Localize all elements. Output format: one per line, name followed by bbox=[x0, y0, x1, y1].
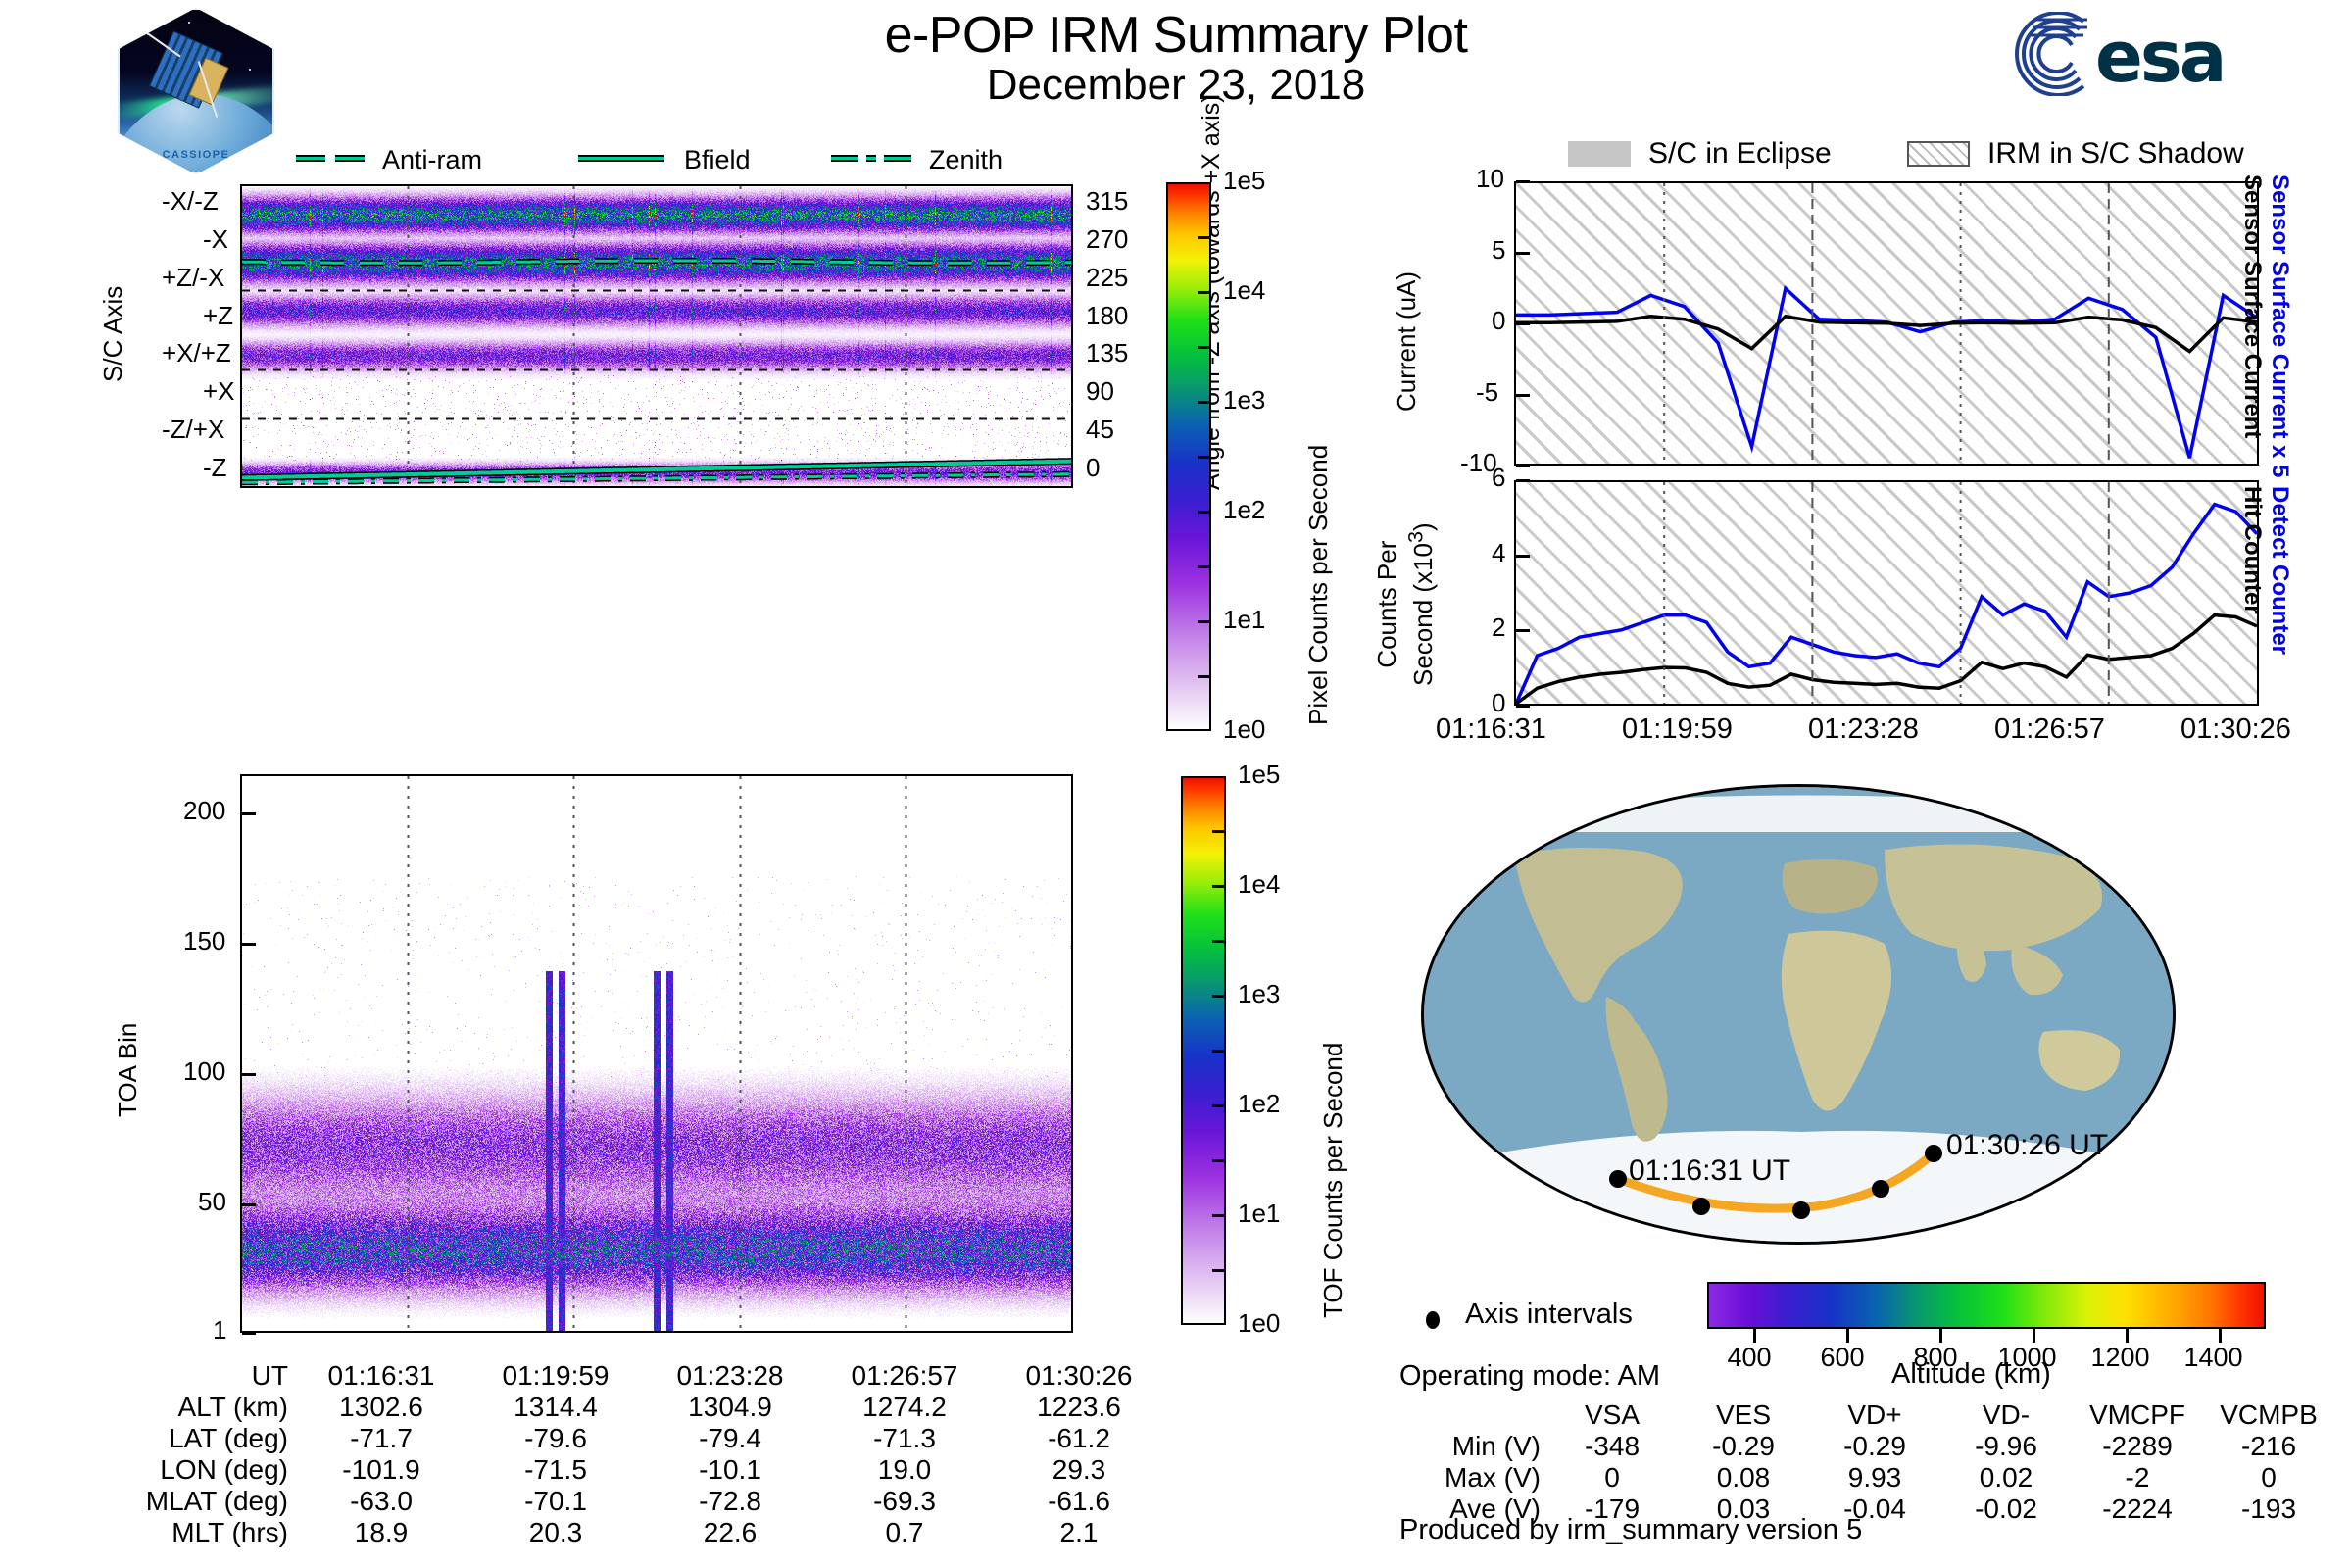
tof-cbar-tick-1: 1e4 bbox=[1238, 869, 1280, 900]
counts-right-label-blue: Detect Counter bbox=[2266, 486, 2293, 655]
tof-cbar-tick-5: 1e0 bbox=[1238, 1308, 1280, 1339]
track-point-start bbox=[1609, 1170, 1627, 1188]
map-end-time-label: 01:30:26 UT bbox=[1946, 1129, 2108, 1162]
eclipse-swatch bbox=[1568, 141, 1631, 167]
ephemeris-cell-2-1: -79.6 bbox=[468, 1423, 643, 1454]
ephemeris-row-label-1: ALT (km) bbox=[108, 1392, 294, 1423]
legend-label-zenith: Zenith bbox=[929, 145, 1003, 175]
toa-spectrogram-panel[interactable] bbox=[240, 774, 1073, 1333]
toa-spectrogram-image bbox=[242, 776, 1071, 1331]
ephemeris-cell-5-4: 2.1 bbox=[992, 1517, 1166, 1548]
ytick-p3-ticks-2: 0 bbox=[1492, 306, 1505, 336]
legend-label-bfield: Bfield bbox=[684, 145, 751, 175]
shadow-legend: S/C in Eclipse IRM in S/C Shadow bbox=[1568, 137, 2332, 172]
voltage-row-label-1: Max (V) bbox=[1399, 1462, 1546, 1494]
toa-ytick-3: 50 bbox=[198, 1187, 226, 1217]
voltage-cell-2-5: -193 bbox=[2203, 1494, 2334, 1525]
ephemeris-cell-0-2: 01:23:28 bbox=[643, 1360, 817, 1392]
pixel-cbar-tick-2: 1e3 bbox=[1223, 385, 1265, 416]
toa-panel-ylabel: TOA Bin bbox=[113, 1023, 143, 1117]
ephemeris-cell-3-1: -71.5 bbox=[468, 1454, 643, 1486]
angle-spectrogram-panel[interactable] bbox=[240, 184, 1073, 488]
eclipse-label: S/C in Eclipse bbox=[1648, 137, 1832, 171]
altitude-tick-4: 1200 bbox=[2091, 1343, 2150, 1373]
voltage-cell-0-4: -2289 bbox=[2072, 1431, 2203, 1462]
angle-ytick-right-0: 315 bbox=[1086, 186, 1128, 217]
operating-mode-label: Operating mode: AM bbox=[1399, 1360, 1660, 1393]
angle-ytick-left-7: -Z bbox=[203, 453, 227, 483]
legend-swatch-bfield bbox=[578, 155, 664, 162]
ytick-p4-ticks-1: 4 bbox=[1492, 538, 1505, 568]
altitude-tick-0: 400 bbox=[1728, 1343, 1772, 1373]
ephemeris-row: LON (deg)-101.9-71.5-10.119.029.3 bbox=[108, 1454, 1166, 1486]
ephemeris-row-label-5: MLT (hrs) bbox=[108, 1517, 294, 1548]
ephemeris-cell-2-4: -61.2 bbox=[992, 1423, 1166, 1454]
ephemeris-cell-0-3: 01:26:57 bbox=[817, 1360, 992, 1392]
ephemeris-row: ALT (km)1302.61314.41304.91274.21223.6 bbox=[108, 1392, 1166, 1423]
tof-cbar-tick-3: 1e2 bbox=[1238, 1089, 1280, 1119]
series-1 bbox=[1516, 317, 2257, 352]
tof-cbar-tick-0: 1e5 bbox=[1238, 759, 1280, 790]
voltage-column-header-3: VD- bbox=[1940, 1399, 2072, 1431]
patch-label: CASSIOPE bbox=[120, 149, 272, 161]
spectrogram-legend: Anti-ram Bfield Zenith bbox=[284, 145, 1029, 174]
pixel-counts-colorbar-label: Pixel Counts per Second bbox=[1303, 445, 1334, 725]
track-point-end bbox=[1925, 1145, 1942, 1162]
ephemeris-cell-4-2: -72.8 bbox=[643, 1486, 817, 1517]
voltage-summary-table: VSAVESVD+VD-VMCPFVCMPBMin (V)-348-0.29-0… bbox=[1399, 1399, 2334, 1525]
voltage-cell-0-5: -216 bbox=[2203, 1431, 2334, 1462]
current-right-label-blue: Sensor Surface Current x 5 bbox=[2266, 174, 2293, 477]
axis-intervals-dot-icon bbox=[1426, 1311, 1440, 1329]
voltage-row-label-0: Min (V) bbox=[1399, 1431, 1546, 1462]
toa-ytick-2: 100 bbox=[183, 1056, 225, 1087]
ephemeris-cell-5-0: 18.9 bbox=[294, 1517, 468, 1548]
pixel-cbar-tick-1: 1e4 bbox=[1223, 275, 1265, 306]
angle-ytick-left-4: +X/+Z bbox=[162, 338, 231, 368]
toa-ytick-0: 200 bbox=[183, 796, 225, 826]
esa-logo: esa bbox=[1989, 10, 2293, 98]
shadow-swatch bbox=[1907, 141, 1970, 167]
altitude-tick-1: 600 bbox=[1821, 1343, 1865, 1373]
toa-ytick-1: 150 bbox=[183, 926, 225, 956]
tof-counts-colorbar-label: TOF Counts per Second bbox=[1318, 1043, 1348, 1318]
ephemeris-cell-4-0: -63.0 bbox=[294, 1486, 468, 1517]
ephemeris-cell-3-4: 29.3 bbox=[992, 1454, 1166, 1486]
angle-ytick-right-1: 270 bbox=[1086, 224, 1128, 255]
voltage-row: Min (V)-348-0.29-0.29-9.96-2289-216 bbox=[1399, 1431, 2334, 1462]
angle-ytick-right-3: 180 bbox=[1086, 301, 1128, 331]
voltage-column-header-4: VMCPF bbox=[2072, 1399, 2203, 1431]
altitude-colorbar-label: Altitude (km) bbox=[1891, 1358, 2051, 1391]
angle-spectrogram-image bbox=[242, 186, 1071, 486]
counts-xtick-1: 01:19:59 bbox=[1622, 713, 1733, 746]
voltage-cell-1-2: 9.93 bbox=[1809, 1462, 1940, 1494]
produced-by-footer: Produced by irm_summary version 5 bbox=[1399, 1514, 1862, 1546]
counts-xtick-3: 01:26:57 bbox=[1994, 713, 2105, 746]
ephemeris-row: MLAT (deg)-63.0-70.1-72.8-69.3-61.6 bbox=[108, 1486, 1166, 1517]
current-right-label-black: Sensor Surface Current bbox=[2238, 174, 2266, 438]
angle-ytick-right-5: 90 bbox=[1086, 376, 1114, 407]
counts-xtick-2: 01:23:28 bbox=[1808, 713, 1919, 746]
toa-ytick-4: 1 bbox=[213, 1315, 226, 1346]
tof-cbar-tick-4: 1e1 bbox=[1238, 1199, 1280, 1229]
voltage-corner-cell bbox=[1399, 1399, 1546, 1431]
esa-arc-icon bbox=[1989, 12, 2091, 96]
ephemeris-cell-3-2: -10.1 bbox=[643, 1454, 817, 1486]
world-map-graphic bbox=[1424, 787, 2176, 1245]
ephemeris-table: UT01:16:3101:19:5901:23:2801:26:5701:30:… bbox=[108, 1360, 1166, 1548]
voltage-cell-0-2: -0.29 bbox=[1809, 1431, 1940, 1462]
ytick-p3-ticks-3: -5 bbox=[1476, 377, 1498, 408]
angle-ytick-left-5: +X bbox=[203, 376, 235, 407]
ephemeris-cell-1-2: 1304.9 bbox=[643, 1392, 817, 1423]
voltage-column-header-1: VES bbox=[1678, 1399, 1809, 1431]
legend-label-anti-ram: Anti-ram bbox=[382, 145, 482, 175]
altitude-colorbar bbox=[1707, 1282, 2266, 1329]
ephemeris-cell-4-3: -69.3 bbox=[817, 1486, 992, 1517]
angle-ytick-right-7: 0 bbox=[1086, 453, 1100, 483]
angle-ytick-left-0: -X/-Z bbox=[162, 186, 219, 217]
esa-wordmark: esa bbox=[2095, 16, 2224, 98]
ephemeris-cell-4-4: -61.6 bbox=[992, 1486, 1166, 1517]
ground-track-map[interactable]: 01:16:31 UT 01:30:26 UT bbox=[1421, 784, 2176, 1245]
series-0 bbox=[1516, 288, 2257, 458]
ephemeris-cell-5-2: 22.6 bbox=[643, 1517, 817, 1548]
ephemeris-cell-3-3: 19.0 bbox=[817, 1454, 992, 1486]
ephemeris-cell-2-0: -71.7 bbox=[294, 1423, 468, 1454]
voltage-cell-2-4: -2224 bbox=[2072, 1494, 2203, 1525]
voltage-column-header-2: VD+ bbox=[1809, 1399, 1940, 1431]
voltage-row: Max (V)00.089.930.02-20 bbox=[1399, 1462, 2334, 1494]
counts-panel-ylabel: Counts Per Second (x103) bbox=[1372, 522, 1439, 686]
ephemeris-cell-0-0: 01:16:31 bbox=[294, 1360, 468, 1392]
legend-swatch-anti-ram bbox=[296, 155, 325, 162]
ephemeris-cell-4-1: -70.1 bbox=[468, 1486, 643, 1517]
pixel-cbar-tick-3: 1e2 bbox=[1223, 495, 1265, 525]
ytick-p3-ticks-0: 10 bbox=[1476, 164, 1504, 194]
voltage-column-header-0: VSA bbox=[1546, 1399, 1678, 1431]
angle-ytick-right-2: 225 bbox=[1086, 263, 1128, 293]
ephemeris-cell-5-1: 20.3 bbox=[468, 1517, 643, 1548]
angle-panel-ylabel: S/C Axis bbox=[98, 286, 128, 382]
ephemeris-cell-0-4: 01:30:26 bbox=[992, 1360, 1166, 1392]
axis-intervals-label: Axis intervals bbox=[1465, 1298, 1633, 1331]
voltage-column-header-5: VCMPB bbox=[2203, 1399, 2334, 1431]
voltage-cell-1-0: 0 bbox=[1546, 1462, 1678, 1494]
shadow-label: IRM in S/C Shadow bbox=[1987, 137, 2244, 171]
track-point bbox=[1692, 1198, 1710, 1215]
cassiope-mission-patch: CASSIOPE bbox=[118, 8, 274, 174]
ytick-p4-ticks-2: 2 bbox=[1492, 612, 1505, 643]
voltage-cell-0-3: -9.96 bbox=[1940, 1431, 2072, 1462]
angle-ytick-left-1: -X bbox=[203, 224, 228, 255]
altitude-tick-5: 1400 bbox=[2184, 1343, 2243, 1373]
ephemeris-cell-1-0: 1302.6 bbox=[294, 1392, 468, 1423]
ephemeris-cell-0-1: 01:19:59 bbox=[468, 1360, 643, 1392]
track-point bbox=[1872, 1180, 1889, 1198]
voltage-header-row: VSAVESVD+VD-VMCPFVCMPB bbox=[1399, 1399, 2334, 1431]
counts-xtick-4: 01:30:26 bbox=[2180, 713, 2291, 746]
ephemeris-row: LAT (deg)-71.7-79.6-79.4-71.3-61.2 bbox=[108, 1423, 1166, 1454]
voltage-cell-1-3: 0.02 bbox=[1940, 1462, 2072, 1494]
voltage-cell-1-4: -2 bbox=[2072, 1462, 2203, 1494]
pixel-cbar-tick-0: 1e5 bbox=[1223, 166, 1265, 196]
ephemeris-row-label-0: UT bbox=[108, 1360, 294, 1392]
ephemeris-row-label-4: MLAT (deg) bbox=[108, 1486, 294, 1517]
globe-background bbox=[1421, 784, 2176, 1245]
series-0 bbox=[1516, 505, 2257, 704]
pixel-cbar-tick-5: 1e0 bbox=[1223, 714, 1265, 745]
angle-ytick-left-3: +Z bbox=[203, 301, 233, 331]
ytick-p3-ticks-1: 5 bbox=[1492, 235, 1505, 266]
angle-ytick-left-6: -Z/+X bbox=[162, 415, 224, 445]
counts-series-plot bbox=[1516, 482, 2257, 704]
ephemeris-cell-1-4: 1223.6 bbox=[992, 1392, 1166, 1423]
ephemeris-row-label-2: LAT (deg) bbox=[108, 1423, 294, 1454]
angle-ytick-left-2: +Z/-X bbox=[162, 263, 224, 293]
pixel-cbar-tick-4: 1e1 bbox=[1223, 605, 1265, 635]
ephemeris-cell-5-3: 0.7 bbox=[817, 1517, 992, 1548]
tof-cbar-tick-2: 1e3 bbox=[1238, 979, 1280, 1009]
counts-xtick-0: 01:16:31 bbox=[1436, 713, 1546, 746]
current-panel-ylabel: Current (uA) bbox=[1392, 271, 1422, 412]
ephemeris-row: MLT (hrs)18.920.322.60.72.1 bbox=[108, 1517, 1166, 1548]
voltage-cell-0-0: -348 bbox=[1546, 1431, 1678, 1462]
ephemeris-cell-3-0: -101.9 bbox=[294, 1454, 468, 1486]
counts-ylabel-line2: Second (x103) bbox=[1408, 522, 1438, 686]
ephemeris-row-label-3: LON (deg) bbox=[108, 1454, 294, 1486]
ephemeris-cell-2-3: -71.3 bbox=[817, 1423, 992, 1454]
track-point bbox=[1792, 1201, 1810, 1219]
current-panel[interactable] bbox=[1514, 181, 2259, 465]
voltage-cell-1-5: 0 bbox=[2203, 1462, 2334, 1494]
counts-right-label-black: Hit Counter bbox=[2238, 486, 2266, 614]
counts-panel[interactable] bbox=[1514, 480, 2259, 706]
map-start-time-label: 01:16:31 UT bbox=[1629, 1154, 1790, 1188]
ephemeris-cell-2-2: -79.4 bbox=[643, 1423, 817, 1454]
voltage-cell-1-1: 0.08 bbox=[1678, 1462, 1809, 1494]
voltage-cell-0-1: -0.29 bbox=[1678, 1431, 1809, 1462]
angle-ytick-right-4: 135 bbox=[1086, 338, 1128, 368]
angle-ytick-right-6: 45 bbox=[1086, 415, 1114, 445]
current-series-plot bbox=[1516, 183, 2257, 464]
counts-ylabel-line1: Counts Per bbox=[1372, 541, 1401, 668]
ephemeris-cell-1-1: 1314.4 bbox=[468, 1392, 643, 1423]
voltage-cell-2-3: -0.02 bbox=[1940, 1494, 2072, 1525]
legend-swatch-zenith bbox=[831, 155, 858, 162]
ephemeris-row: UT01:16:3101:19:5901:23:2801:26:5701:30:… bbox=[108, 1360, 1166, 1392]
ytick-p4-ticks-0: 6 bbox=[1492, 463, 1505, 493]
ephemeris-cell-1-3: 1274.2 bbox=[817, 1392, 992, 1423]
